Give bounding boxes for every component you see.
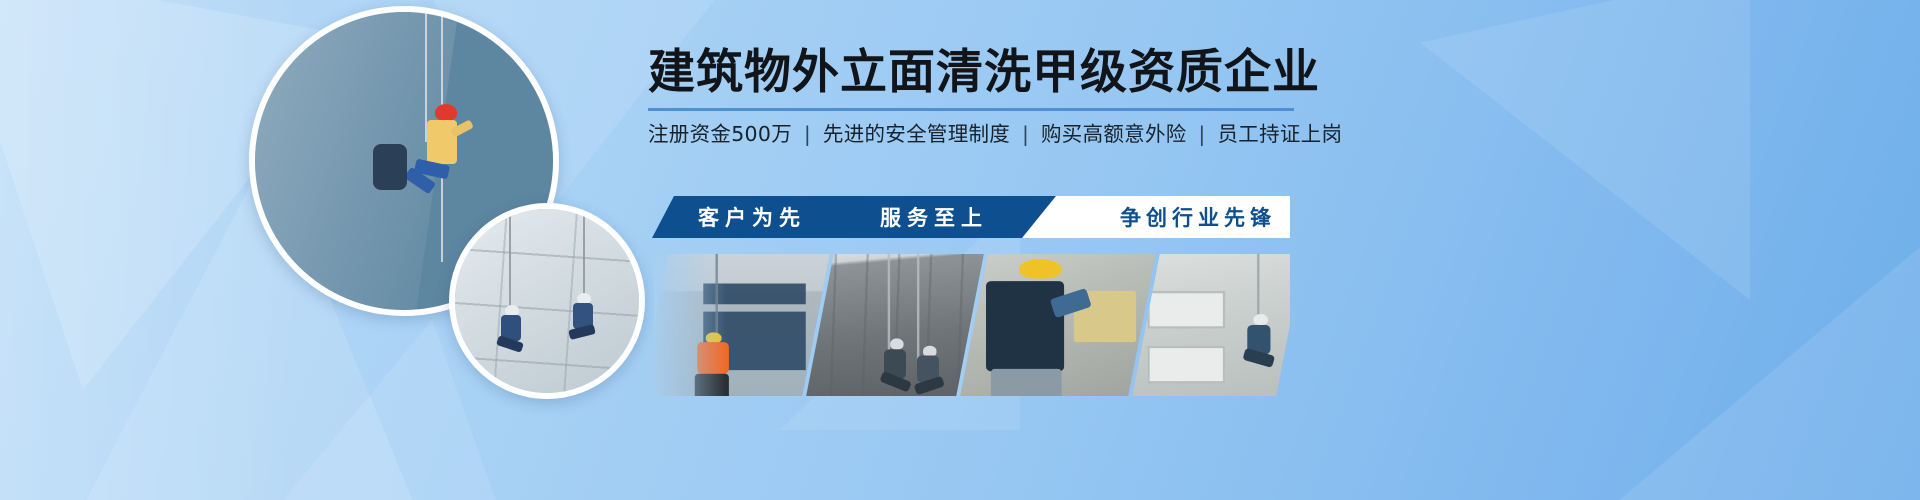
background-triangle-6 bbox=[1420, 0, 1750, 300]
subtitle-item-2: 先进的安全管理制度 bbox=[823, 122, 1010, 146]
slogan-customer-first: 客户为先 bbox=[698, 196, 806, 238]
grey-facade bbox=[455, 209, 639, 393]
safety-rope bbox=[509, 209, 511, 319]
photo-strip bbox=[654, 254, 1290, 396]
subtitle-line: 注册资金500万 | 先进的安全管理制度 | 购买高额意外险 | 员工持证上岗 bbox=[648, 122, 1294, 147]
subtitle-separator: | bbox=[799, 122, 816, 146]
slogan-ribbon: 客户为先 服务至上 争创行业先锋 bbox=[652, 196, 1290, 238]
subtitle-separator: | bbox=[1193, 122, 1210, 146]
worker-figure-right bbox=[567, 293, 609, 353]
safety-rope bbox=[583, 209, 585, 305]
circle-photo-secondary bbox=[449, 203, 645, 399]
promo-banner: 建筑物外立面清洗甲级资质企业 注册资金500万 | 先进的安全管理制度 | 购买… bbox=[0, 0, 1920, 500]
page-title: 建筑物外立面清洗甲级资质企业 bbox=[648, 48, 1294, 98]
slogan-service-supreme: 服务至上 bbox=[880, 196, 988, 238]
title-underline bbox=[648, 108, 1294, 111]
subtitle-separator: | bbox=[1017, 122, 1034, 146]
headline-block: 建筑物外立面清洗甲级资质企业 注册资金500万 | 先进的安全管理制度 | 购买… bbox=[648, 48, 1294, 146]
strip-photo-4 bbox=[1132, 254, 1290, 396]
strip-photo-2 bbox=[806, 254, 984, 396]
subtitle-item-1: 注册资金500万 bbox=[648, 122, 792, 146]
worker-figure-left bbox=[495, 305, 537, 365]
background-triangle-7 bbox=[1560, 230, 1920, 500]
subtitle-item-4: 员工持证上岗 bbox=[1217, 122, 1342, 146]
slogan-industry-pioneer: 争创行业先锋 bbox=[1120, 196, 1276, 238]
strip-photo-3 bbox=[960, 254, 1156, 396]
strip-photo-1 bbox=[654, 254, 830, 396]
subtitle-item-3: 购买高额意外险 bbox=[1041, 122, 1187, 146]
